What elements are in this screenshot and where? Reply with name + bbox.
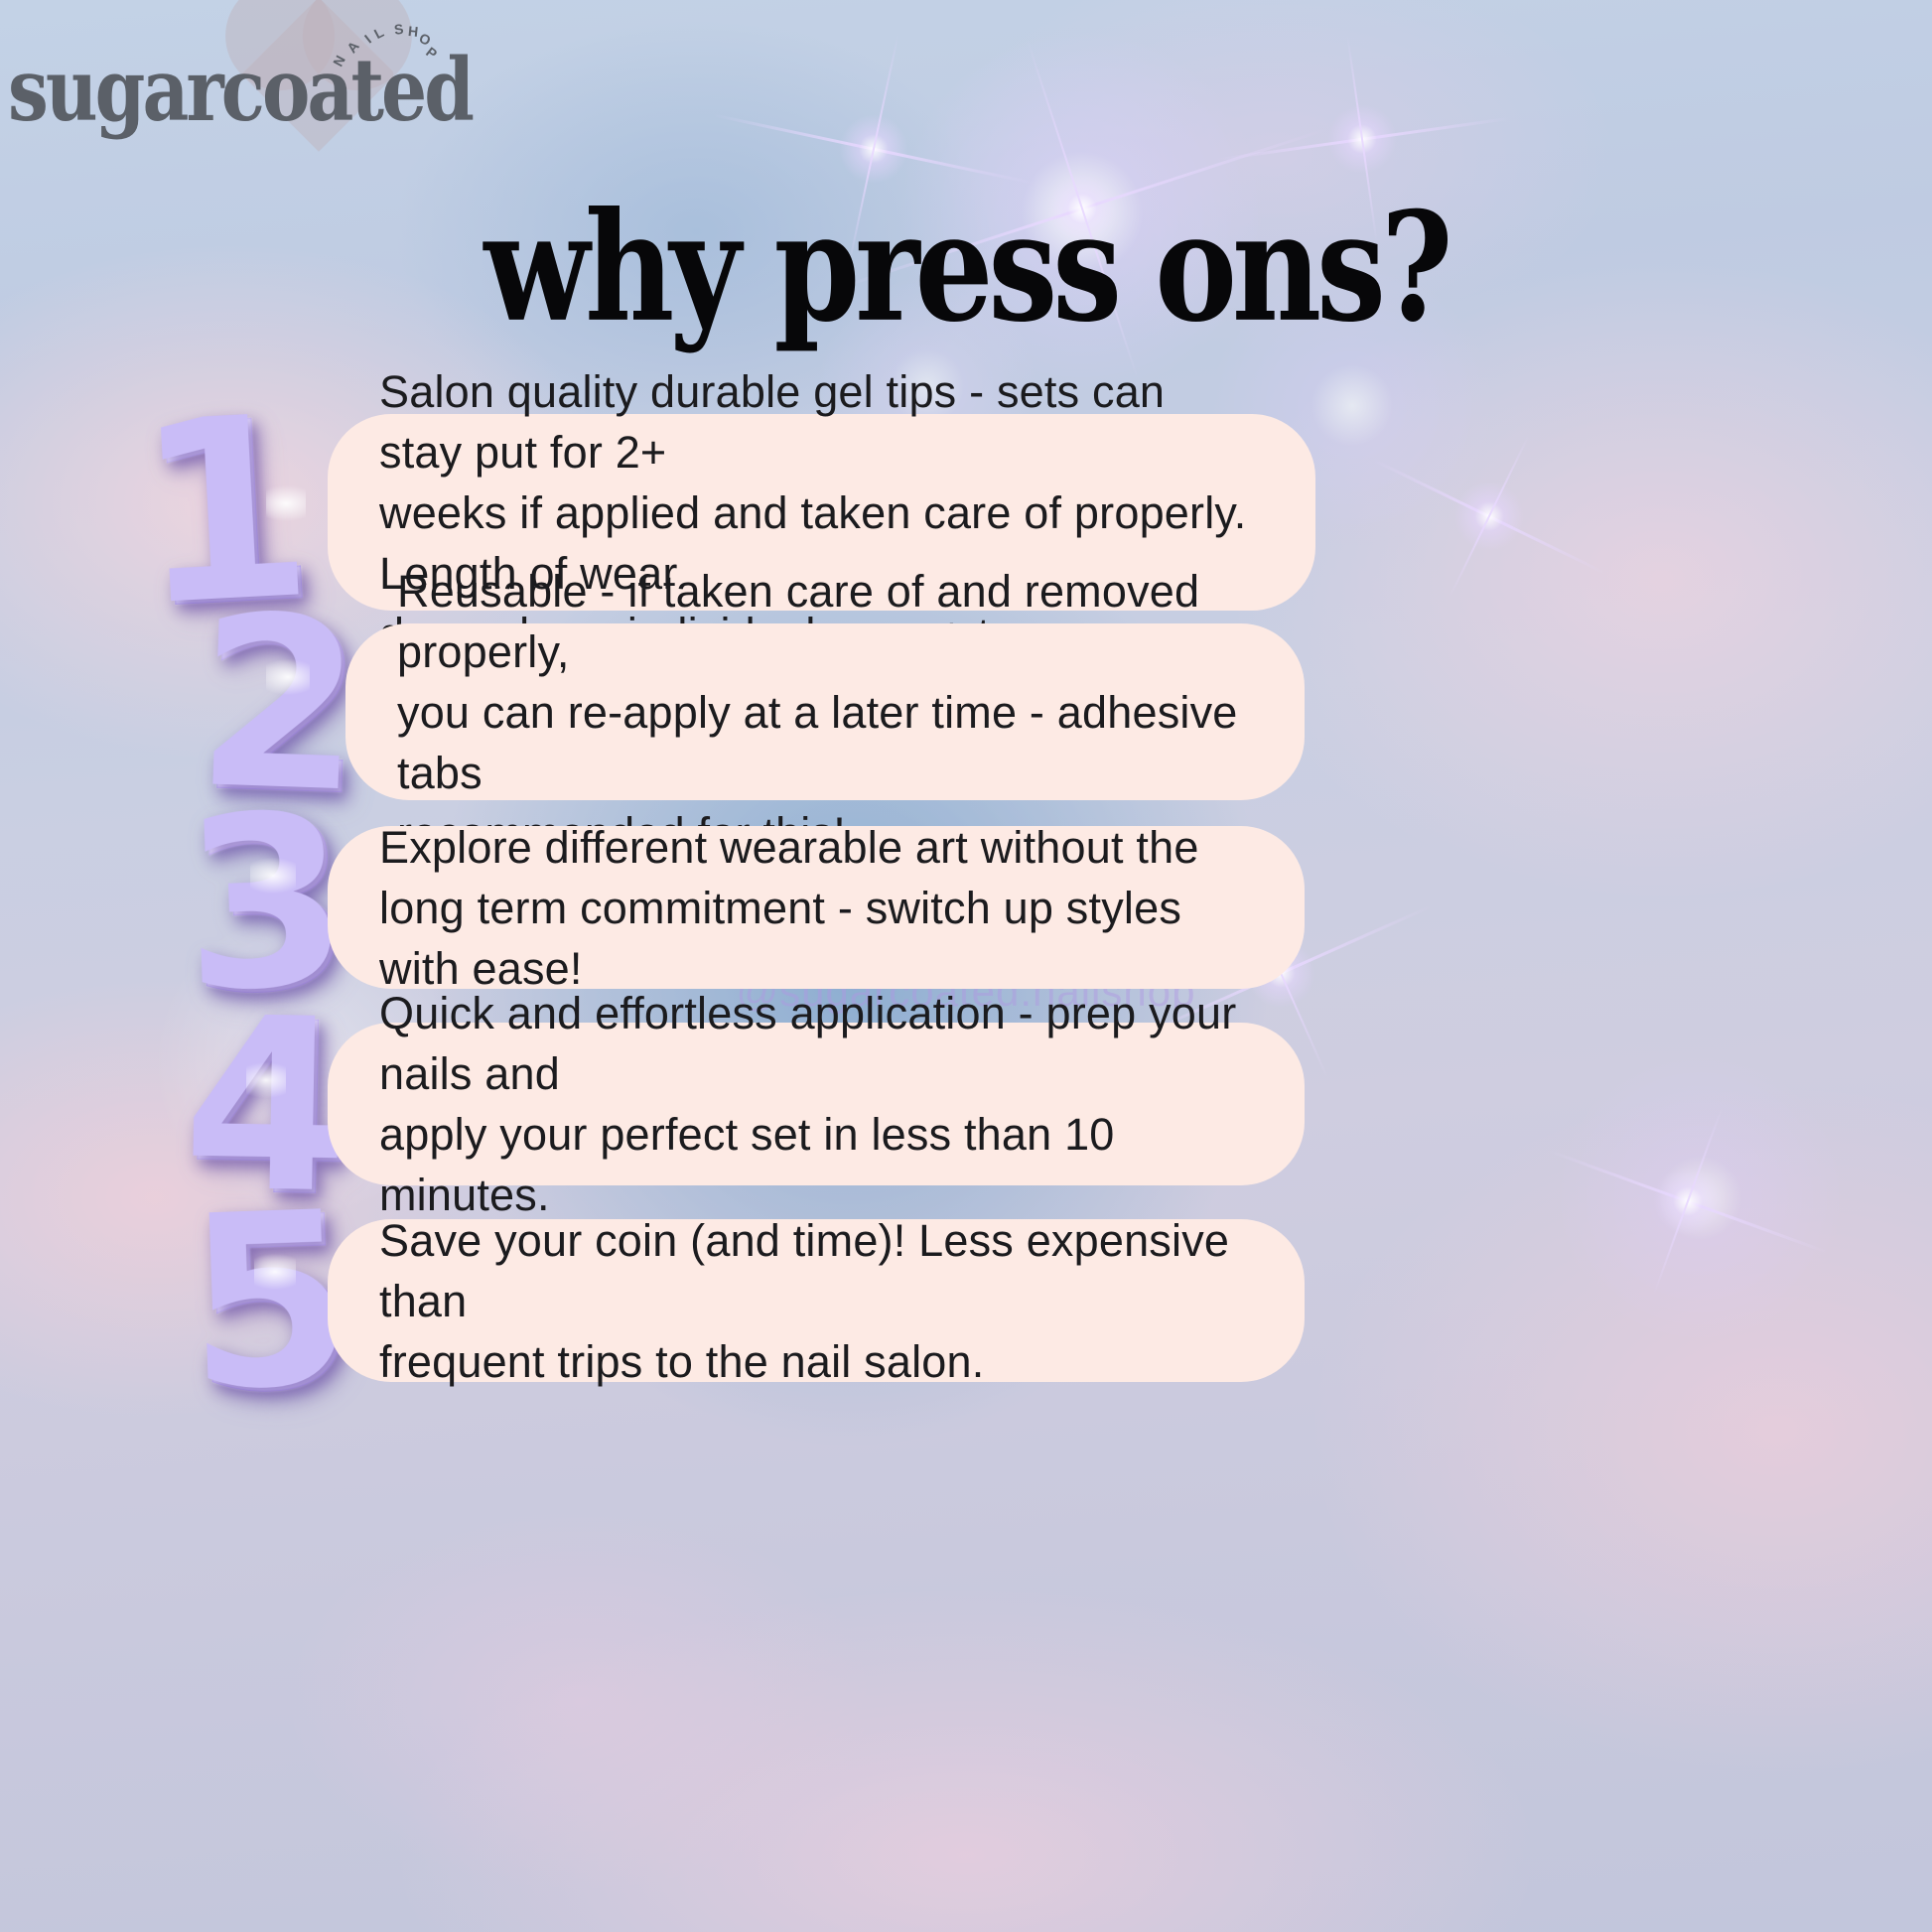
reason-card-3: Explore different wearable art without t…: [328, 826, 1305, 989]
reasons-list: 1 Salon quality durable gel tips - sets …: [0, 0, 1932, 1932]
reason-text-4: Quick and effortless application - prep …: [379, 983, 1245, 1225]
reason-card-4: Quick and effortless application - prep …: [328, 1023, 1305, 1185]
reason-text-5: Save your coin (and time)! Less expensiv…: [379, 1210, 1245, 1392]
reason-card-5: Save your coin (and time)! Less expensiv…: [328, 1219, 1305, 1382]
reason-text-3: Explore different wearable art without t…: [379, 817, 1245, 999]
poster-canvas: sugarcoated N A I L S H O P why press on…: [0, 0, 1932, 1932]
reason-card-2: Reusable - if taken care of and removed …: [345, 623, 1305, 800]
